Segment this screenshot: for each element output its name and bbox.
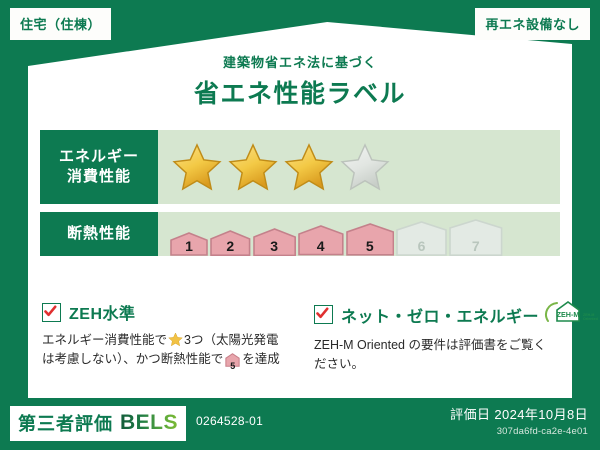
svg-text:ZEH-M: ZEH-M [557,310,580,319]
footer-right: 評価日 2024年10月8日 307da6fd-ca2e-4e01 [450,404,588,437]
insulation-grade-1: 1 [170,232,208,256]
criteria-section: ZEH水準 エネルギー消費性能で3つ（太陽光発電 は考慮しない）、かつ断熱性能で… [28,300,572,375]
label-uuid: 307da6fd-ca2e-4e01 [450,426,588,437]
bels-plate: 第三者評価 BELS [10,406,186,441]
inline-house-badge: 5 [225,353,240,373]
insulation-grade-4: 4 [298,225,344,256]
title-block: 建築物省エネ法に基づく 省エネ性能ラベル [0,52,600,110]
row-energy-performance: エネルギー 消費性能 [40,130,560,204]
insulation-grade-value: 7 [449,238,503,254]
zeh-desc-part3: は考慮しない）、かつ断熱性能で [42,352,223,366]
insulation-grade-2: 2 [210,230,251,256]
row-insulation-label: 断熱性能 [40,212,158,256]
evaluation-date: 評価日 2024年10月8日 [450,404,588,423]
row-energy-label-line1: エネルギー [59,147,139,167]
bels-jp-label: 第三者評価 [18,410,113,436]
insulation-grade-scale: 1234567 [170,216,505,256]
star-filled-icon [228,142,278,192]
row-insulation-performance: 断熱性能 1234567 [40,212,560,256]
star-empty-icon [340,142,390,192]
zeh-m-oriented-logo-icon: ZEH-M ZEH-M Oriented [544,300,600,329]
bels-logo-text: BELS [120,411,178,435]
insulation-grade-5: 5 [346,223,394,256]
star-rating [158,130,560,204]
insulation-grade-7: 7 [449,219,503,256]
nze-title: ネット・ゼロ・エネルギー [341,303,539,327]
criteria-zeh-header: ZEH水準 [42,300,286,324]
zeh-checkbox[interactable] [42,303,61,322]
energy-performance-label: 住宅（住棟） 再エネ設備なし 建築物省エネ法に基づく 省エネ性能ラベル エネルギ… [0,0,600,450]
nze-description: ZEH-M Oriented の要件は評価書をご覧ください。 [314,336,558,375]
svg-text:Oriented: Oriented [583,317,598,321]
inline-star-icon [168,332,183,347]
page-title: 省エネ性能ラベル [0,74,600,110]
criteria-nze-header: ネット・ゼロ・エネルギー ZEH-M ZEH-M Oriented [314,300,558,329]
zeh-desc-part4: を達成 [242,352,280,366]
row-energy-label: エネルギー 消費性能 [40,130,158,204]
insulation-grade-value: 4 [298,238,344,254]
inline-house-value: 5 [225,360,240,374]
star-filled-icon [284,142,334,192]
insulation-grade-6: 6 [396,221,447,256]
zeh-description: エネルギー消費性能で3つ（太陽光発電 は考慮しない）、かつ断熱性能で5を達成 [42,331,286,374]
insulation-grade-value: 5 [346,238,394,254]
zeh-desc-part1: エネルギー消費性能で [42,333,167,347]
zeh-desc-part2: 3つ（太陽光発電 [184,333,278,347]
insulation-grade-value: 2 [210,238,251,254]
bels-certificate-number: 0264528-01 [196,414,263,428]
title-subtitle: 建築物省エネ法に基づく [0,52,600,71]
insulation-grade-scale-wrap: 1234567 [158,212,560,256]
nze-checkbox[interactable] [314,305,333,324]
insulation-grade-value: 6 [396,238,447,254]
zeh-title: ZEH水準 [69,300,136,324]
performance-rows: エネルギー 消費性能 断熱性能 1234567 [40,130,560,264]
row-energy-label-line2: 消費性能 [67,167,131,187]
insulation-grade-3: 3 [253,228,296,256]
badge-building-type: 住宅（住棟） [10,8,111,40]
criteria-zeh-standard: ZEH水準 エネルギー消費性能で3つ（太陽光発電 は考慮しない）、かつ断熱性能で… [28,300,300,375]
criteria-net-zero-energy: ネット・ゼロ・エネルギー ZEH-M ZEH-M Oriented ZEH-M … [300,300,572,375]
badge-renewable-equipment: 再エネ設備なし [475,8,590,40]
insulation-grade-value: 1 [170,238,208,254]
insulation-grade-value: 3 [253,238,296,254]
star-filled-icon [172,142,222,192]
footer: 第三者評価 BELS 0264528-01 評価日 2024年10月8日 307… [0,398,600,450]
